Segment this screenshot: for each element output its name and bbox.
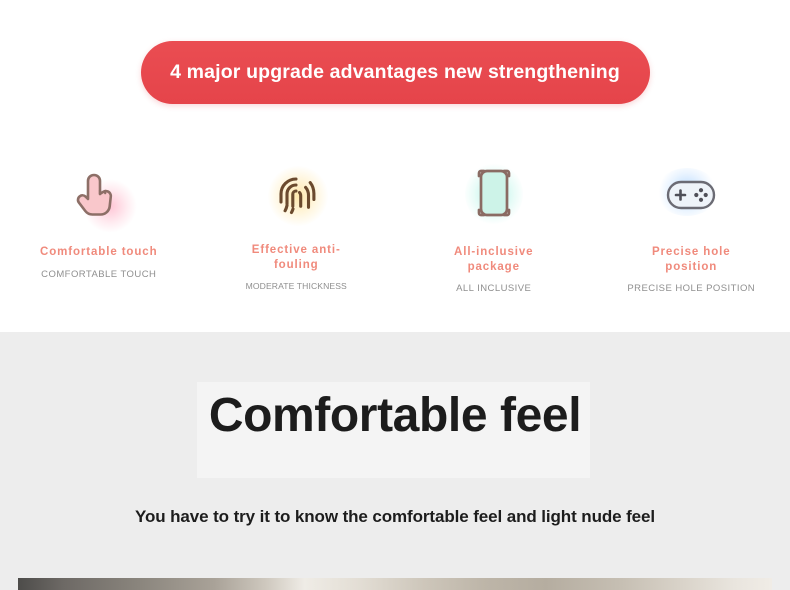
product-detail-page: 4 major upgrade advantages new strengthe… (0, 0, 790, 590)
page-subtitle: You have to try it to know the comfortab… (0, 507, 790, 527)
feature-item-effective-anti-fouling: Effective anti-fouling MODERATE THICKNES… (198, 163, 396, 294)
fingerprint-icon (266, 165, 326, 225)
feature-title: Precise hole position (631, 245, 751, 274)
upgrade-advantages-section: 4 major upgrade advantages new strengthe… (0, 0, 790, 332)
feature-item-comfortable-touch: Comfortable touch COMFORTABLE TOUCH (0, 163, 198, 294)
banner-title: 4 major upgrade advantages new strengthe… (170, 61, 620, 84)
feature-subtitle: ALL INCLUSIVE (456, 283, 531, 294)
phone-frame-icon (468, 164, 520, 226)
feature-title: Effective anti-fouling (248, 243, 344, 272)
pointing-hand-icon (69, 165, 129, 225)
feature-title: Comfortable touch (40, 245, 158, 260)
feature-subtitle: COMFORTABLE TOUCH (41, 269, 156, 280)
product-photo-strip (18, 578, 772, 590)
banner-container: 4 major upgrade advantages new strengthe… (0, 41, 790, 104)
feature-subtitle: PRECISE HOLE POSITION (627, 283, 755, 294)
feature-subtitle: MODERATE THICKNESS (246, 281, 347, 291)
comfortable-feel-section: Comfortable feel You have to try it to k… (0, 332, 790, 590)
upgrade-banner: 4 major upgrade advantages new strengthe… (141, 41, 650, 104)
feature-item-precise-hole-position: Precise hole position PRECISE HOLE POSIT… (593, 163, 790, 294)
feature-list: Comfortable touch COMFORTABLE TOUCH (0, 163, 790, 294)
feature-title: All-inclusive package (434, 245, 554, 274)
feature-item-all-inclusive-package: All-inclusive package ALL INCLUSIVE (395, 163, 593, 294)
feature-icon-wrap (468, 163, 520, 227)
feature-icon-wrap (266, 163, 326, 227)
feature-icon-wrap (662, 163, 720, 227)
gamepad-icon (662, 174, 720, 216)
feature-icon-wrap (69, 163, 129, 227)
page-title: Comfortable feel (0, 392, 790, 440)
